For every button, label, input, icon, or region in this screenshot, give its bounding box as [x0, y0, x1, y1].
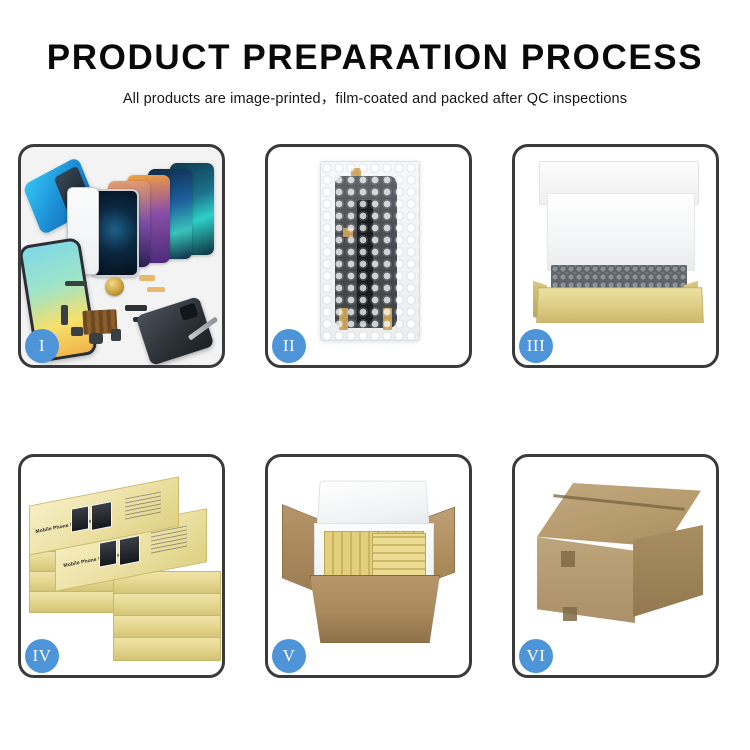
- step-badge-1: I: [25, 329, 59, 363]
- process-step-panel-2: II: [265, 144, 472, 368]
- process-step-panel-3: III: [512, 144, 719, 368]
- tape-bottom-left: [339, 308, 348, 330]
- carton-front-face: [537, 537, 635, 623]
- yellow-boxes-row-2: [372, 533, 426, 577]
- step-badge-3: III: [519, 329, 553, 363]
- tape-top: [351, 168, 361, 176]
- carton-side-face: [633, 525, 703, 617]
- step-badge-2: II: [272, 329, 306, 363]
- wrapped-part-strip: [357, 200, 373, 324]
- box-screen-image-1b: [91, 501, 112, 531]
- carton-tape-lower: [563, 607, 577, 621]
- tape-mid: [343, 228, 353, 237]
- carton-tape-upper: [561, 551, 575, 567]
- stack-box-r4: [113, 637, 221, 661]
- kraft-box-body: [536, 287, 704, 323]
- box-screen-image-2a: [99, 539, 117, 567]
- process-step-grid: I II III: [18, 144, 732, 678]
- step-badge-4: IV: [25, 639, 59, 673]
- box-stack: Mobile Phone Spare Parts Mobile Phone Sp…: [27, 475, 222, 655]
- small-part-1: [61, 305, 68, 325]
- process-step-panel-4: Mobile Phone Spare Parts Mobile Phone Sp…: [18, 454, 225, 678]
- flex-cable-gold-1: [139, 275, 155, 281]
- small-part-4: [111, 329, 121, 341]
- flex-cable-gold-2: [147, 287, 165, 292]
- tape-bottom-right: [383, 308, 392, 330]
- small-part-3: [89, 333, 103, 344]
- box-screen-image-1a: [71, 505, 89, 532]
- stack-box-r2: [113, 593, 221, 617]
- process-step-panel-6: VI: [512, 454, 719, 678]
- stack-box-r3: [113, 615, 221, 639]
- bubble-wrap-bag: [320, 161, 420, 341]
- box-screen-image-2b: [119, 535, 140, 566]
- page-title: PRODUCT PREPARATION PROCESS: [0, 0, 750, 77]
- small-part-2: [71, 327, 83, 336]
- page-header: PRODUCT PREPARATION PROCESS All products…: [0, 0, 750, 108]
- foam-sheet: [547, 193, 695, 271]
- step-badge-5: V: [272, 639, 306, 673]
- small-part-strip: [65, 281, 87, 286]
- flex-cable-dark-1: [125, 305, 147, 311]
- speaker-module-part: [105, 277, 124, 296]
- step-badge-6: VI: [519, 639, 553, 673]
- process-step-panel-1: I: [18, 144, 225, 368]
- process-step-panel-5: V: [265, 454, 472, 678]
- page-subtitle: All products are image-printed，film-coat…: [0, 77, 750, 108]
- carton-body: [310, 575, 440, 643]
